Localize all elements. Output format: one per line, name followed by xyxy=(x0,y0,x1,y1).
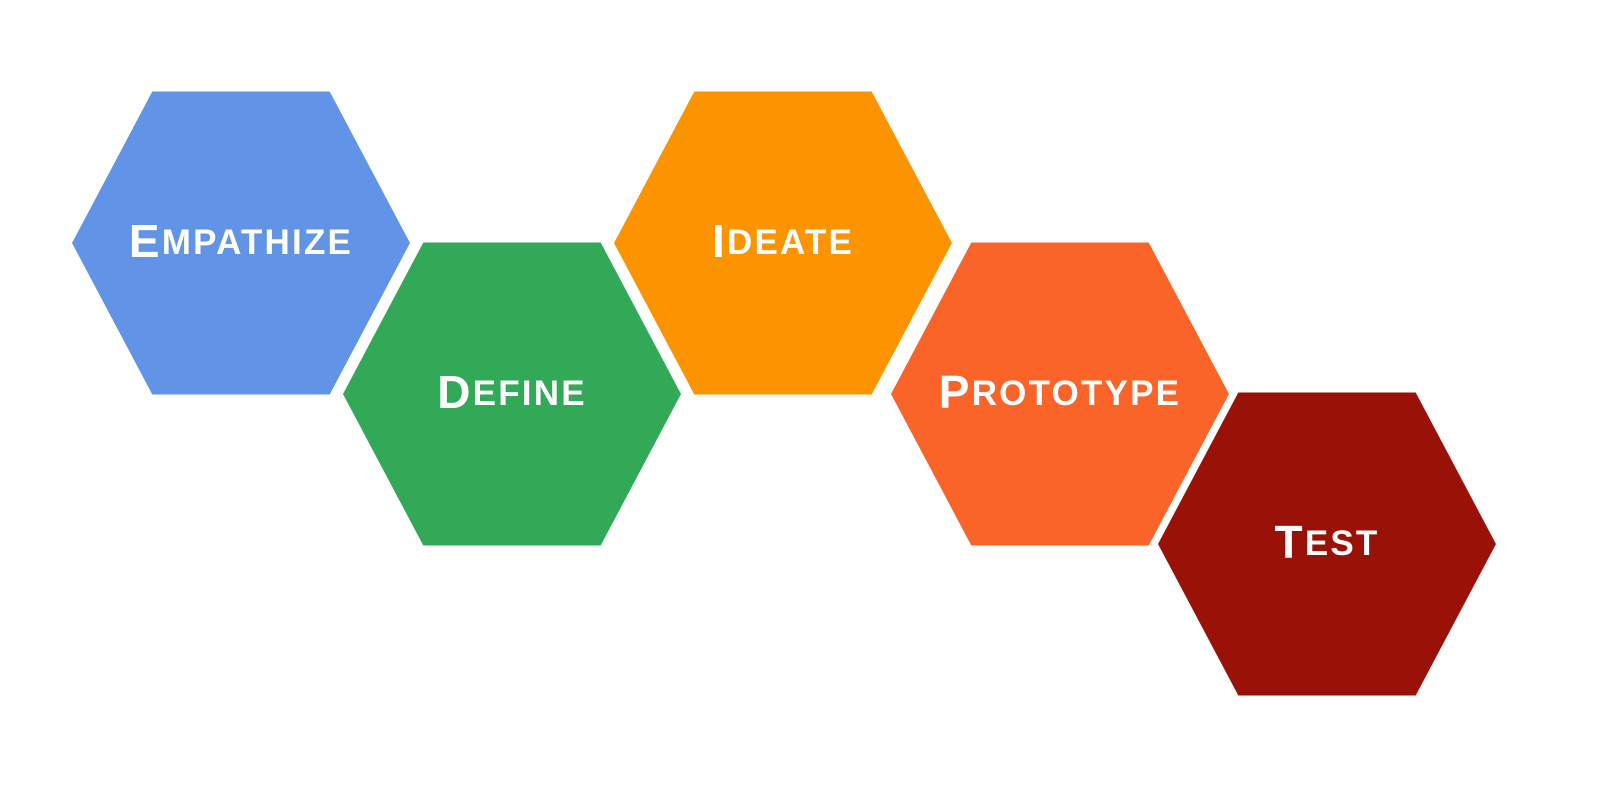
label-initial: P xyxy=(939,366,972,418)
label-remainder: DEATE xyxy=(727,223,854,262)
label-initial: E xyxy=(129,215,162,267)
hexagon-label-ideate: IDEATE xyxy=(712,215,854,267)
label-remainder: EST xyxy=(1305,524,1380,563)
hexagon-label-test: TEST xyxy=(1275,516,1380,568)
hexagon-label-define: DEFINE xyxy=(437,366,587,418)
diagram-canvas: EMPATHIZEDEFINEIDEATEPROTOTYPETEST xyxy=(0,0,1600,798)
label-remainder: MPATHIZE xyxy=(162,223,353,262)
label-initial: D xyxy=(437,366,472,418)
hexagon-label-prototype: PROTOTYPE xyxy=(939,366,1181,418)
hexagon-process-diagram: EMPATHIZEDEFINEIDEATEPROTOTYPETEST xyxy=(0,0,1600,798)
label-initial: T xyxy=(1275,516,1305,568)
label-initial: I xyxy=(712,215,727,267)
label-remainder: ROTOTYPE xyxy=(972,374,1182,413)
hexagon-label-empathize: EMPATHIZE xyxy=(129,215,353,267)
label-remainder: EFINE xyxy=(473,374,587,413)
